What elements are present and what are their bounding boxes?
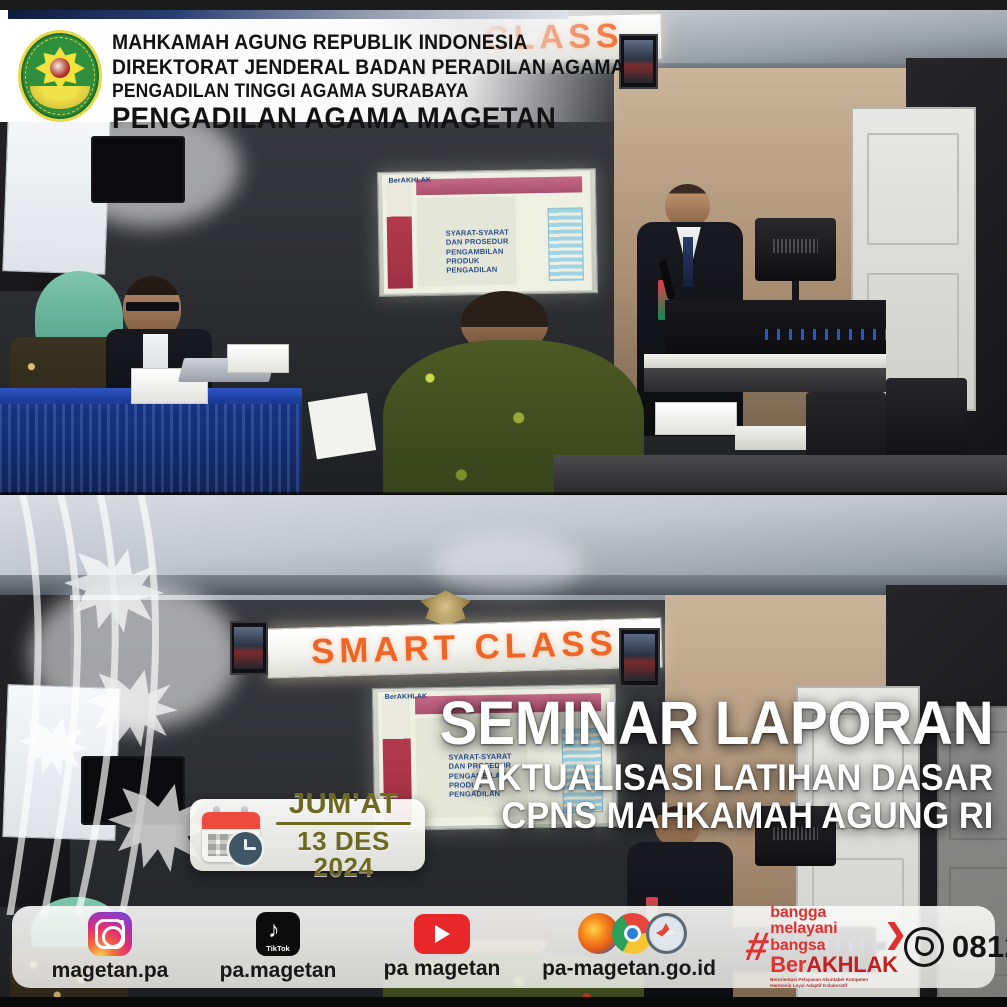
- presentation-slide-top: BerAKHLAK SYARAT-SYARAT DAN PROSEDUR PEN…: [382, 171, 592, 293]
- whatsapp-number-label: 0812 124 124 13: [952, 929, 1007, 965]
- court-seal-logo: [18, 30, 102, 122]
- footer-item-website[interactable]: pa-magetan.go.id: [526, 913, 732, 981]
- berakhlak-subtitle: Berorientasi Pelayanan Akuntabel Kompete…: [770, 977, 888, 989]
- portrait-right-bottom: [619, 628, 659, 687]
- social-footer-bar: magetan.pa ♪ TikTok pa.magetan pa mageta…: [12, 906, 995, 988]
- safari-icon[interactable]: [646, 913, 687, 954]
- desk-right-1-top: [644, 354, 886, 369]
- presenter-head: [665, 184, 709, 227]
- institution-text-block: MAHKAMAH AGUNG REPUBLIK INDONESIA DIREKT…: [112, 32, 669, 134]
- title-line-3: CPNS MAHKAMAH AGUNG RI: [439, 798, 993, 834]
- slide-brand-label-top: BerAKHLAK: [388, 177, 431, 185]
- date-value-label: 13 DES 2024: [272, 828, 415, 880]
- loose-paper: [308, 393, 377, 460]
- av-mixer-leds: [765, 329, 886, 340]
- speaker-on-stand: [755, 218, 836, 281]
- footer-item-instagram[interactable]: magetan.pa: [26, 912, 194, 983]
- downlight-spot: [433, 535, 583, 595]
- org-line-4: PENGADILAN AGAMA MAGETAN: [112, 104, 625, 134]
- portrait-left-bottom: [230, 621, 268, 675]
- berakhlak-logo: # bangga melayani bangsa BerAKHLAK Beror…: [746, 905, 898, 989]
- poster-title-block: SEMINAR LAPORAN AKTUALISASI LATIHAN DASA…: [398, 694, 993, 834]
- berakhlak-brand-part2: AKHLAK: [806, 952, 898, 977]
- date-text-group: JUM’AT 13 DES 2024: [272, 790, 415, 880]
- wall-monitor-left: [91, 136, 186, 203]
- poster-canvas: SMART CLASS BerAKHLAK SYARAT-SYARAT DAN …: [0, 0, 1007, 1007]
- seal-shape: [18, 30, 102, 122]
- projector-screen-top: BerAKHLAK SYARAT-SYARAT DAN PROSEDUR PEN…: [377, 168, 598, 297]
- berakhlak-word-2: melayani: [770, 921, 898, 937]
- title-line-2: AKTUALISASI LATIHAN DASAR: [439, 760, 993, 796]
- date-day-label: JUM’AT: [272, 790, 415, 819]
- berakhlak-brand-part1: Ber: [770, 952, 806, 977]
- whatsapp-contact[interactable]: 0812 124 124 13: [904, 927, 1007, 967]
- berakhlak-brand: BerAKHLAK: [770, 954, 898, 976]
- institution-header: MAHKAMAH AGUNG REPUBLIK INDONESIA DIREKT…: [0, 10, 620, 122]
- date-divider: [276, 822, 411, 825]
- tiktok-icon[interactable]: ♪ TikTok: [256, 912, 300, 956]
- org-line-1: MAHKAMAH AGUNG REPUBLIK INDONESIA: [112, 32, 625, 53]
- tabletop-box-2: [227, 344, 289, 373]
- org-line-3: PENGADILAN TINGGI AGAMA SURABAYA: [112, 82, 625, 101]
- slide-body-text-top: SYARAT-SYARAT DAN PROSEDUR PENGAMBILAN P…: [445, 227, 509, 275]
- header-accent-strip: [8, 10, 568, 19]
- web-browsers-icon[interactable]: [578, 913, 680, 954]
- footer-item-tiktok[interactable]: ♪ TikTok pa.magetan: [198, 912, 358, 983]
- eyeglasses-icon: [126, 302, 179, 312]
- berakhlak-word-1: bangga: [770, 905, 898, 921]
- photo-seam-divider: [0, 492, 1007, 495]
- whatsapp-icon[interactable]: [904, 927, 944, 967]
- date-badge: JUM’AT 13 DES 2024: [190, 799, 425, 871]
- hash-icon: #: [743, 931, 771, 963]
- calendar-clock-icon: [200, 806, 264, 864]
- footer-item-youtube[interactable]: pa magetan: [362, 914, 522, 981]
- tiktok-handle-label: pa.magetan: [220, 959, 337, 983]
- instagram-icon[interactable]: [88, 912, 132, 956]
- chair-right-1: [886, 378, 967, 455]
- instagram-handle-label: magetan.pa: [52, 959, 169, 983]
- desk-front: [554, 455, 1007, 494]
- top-border-bar: [0, 0, 1007, 10]
- title-line-1: SEMINAR LAPORAN: [439, 694, 993, 753]
- desk-box-right: [655, 402, 738, 435]
- org-line-2: DIREKTORAT JENDERAL BADAN PERADILAN AGAM…: [112, 57, 625, 78]
- presenter-tie: [683, 237, 693, 287]
- youtube-icon[interactable]: [414, 914, 470, 954]
- tiktok-icon-caption: TikTok: [256, 944, 300, 953]
- wall-monitor-left-bottom: [81, 756, 186, 825]
- website-url-label: pa-magetan.go.id: [542, 957, 716, 981]
- youtube-handle-label: pa magetan: [384, 957, 501, 981]
- smart-class-sign-label-bottom: SMART CLASS: [310, 624, 618, 673]
- equipment-rack: [665, 300, 887, 353]
